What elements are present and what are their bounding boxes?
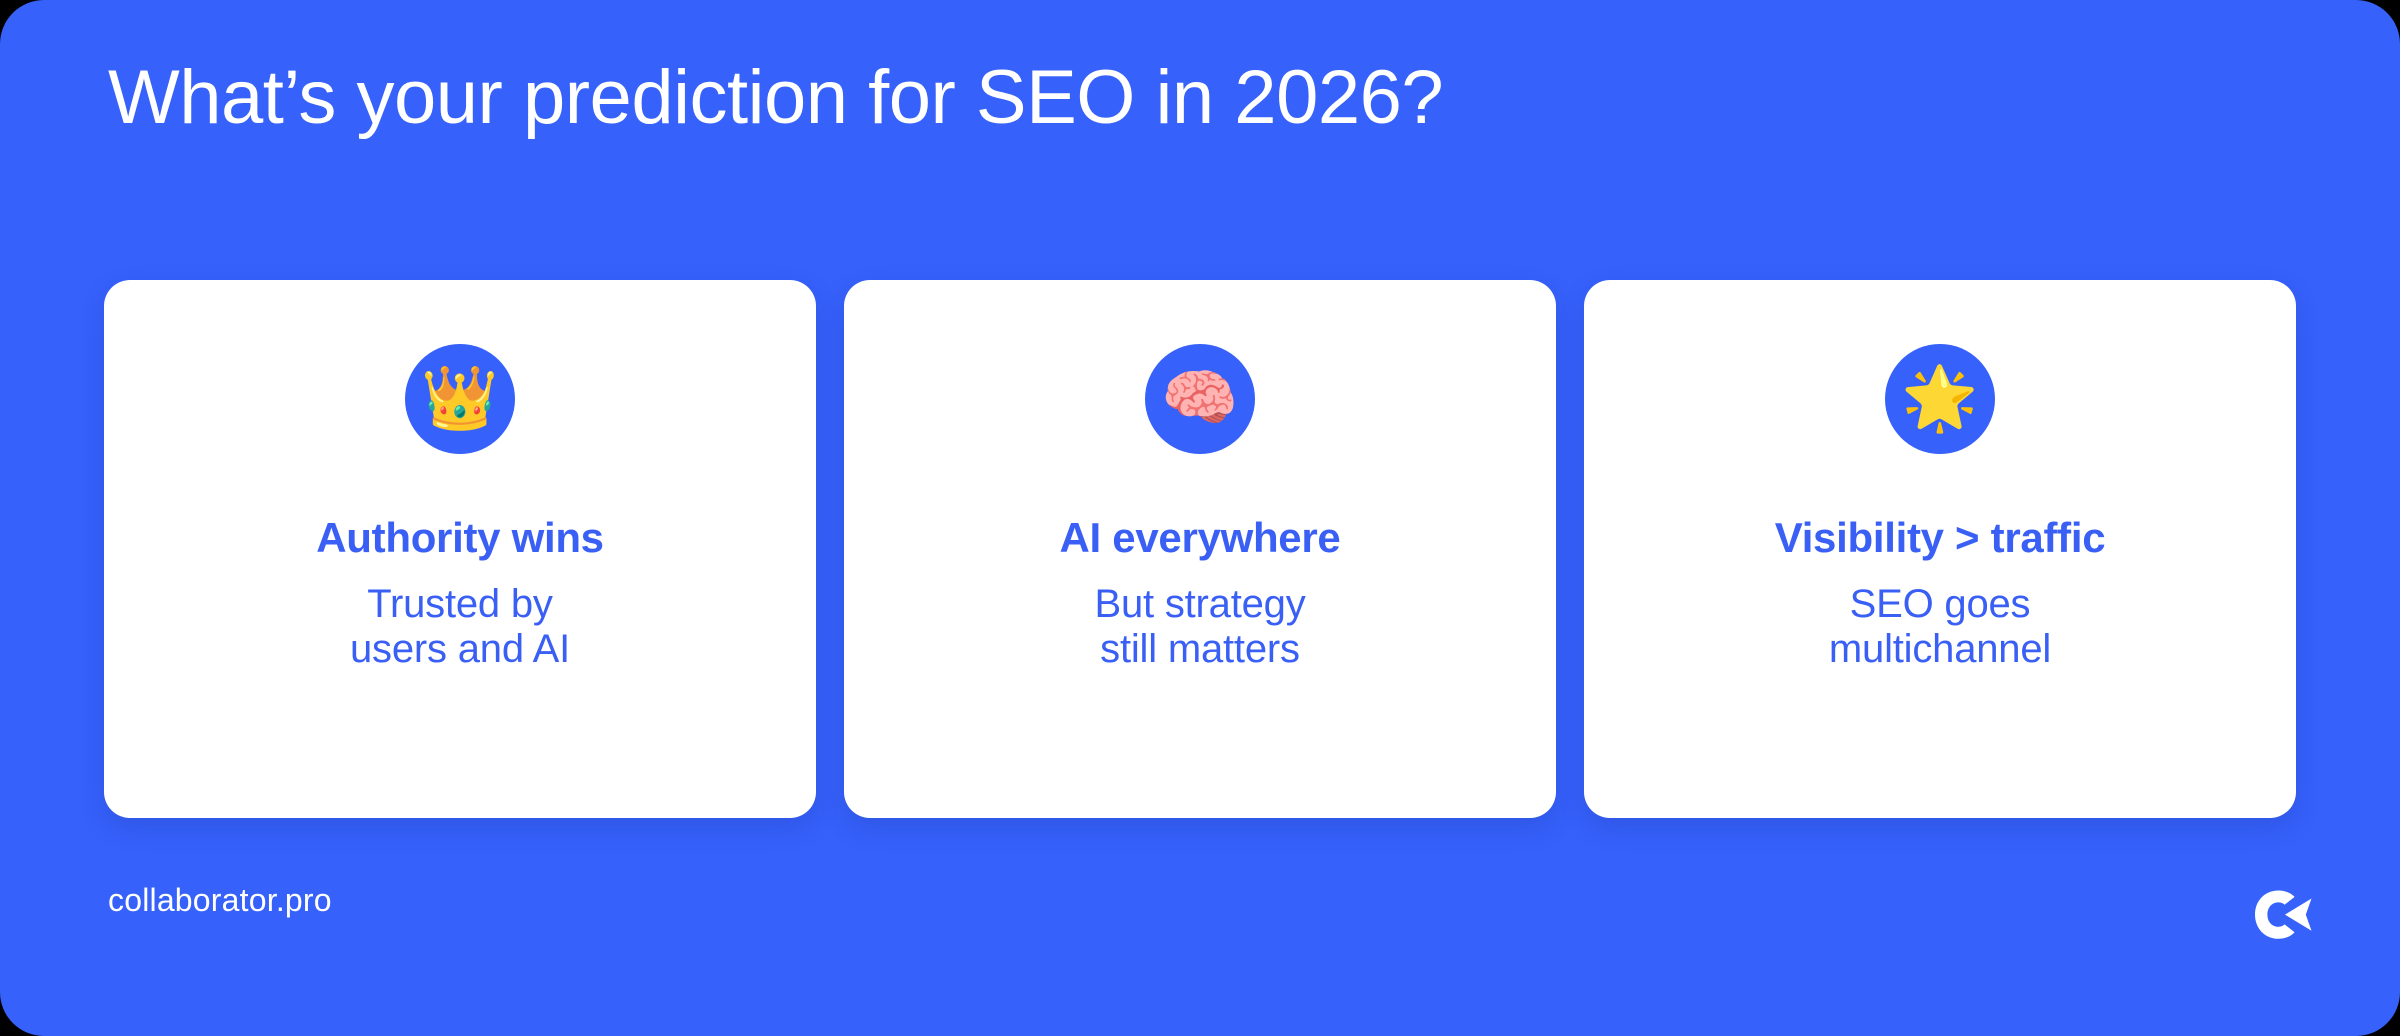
poster-canvas: What’s your prediction for SEO in 2026? … — [0, 0, 2400, 1036]
card-heading: Authority wins — [316, 516, 603, 560]
card-subtitle: But strategy still matters — [1094, 582, 1305, 672]
prediction-card-visibility[interactable]: 🌟 Visibility > traffic SEO goes multicha… — [1584, 280, 2296, 818]
card-heading: AI everywhere — [1060, 516, 1341, 560]
card-subtitle: Trusted by users and AI — [350, 582, 570, 672]
prediction-cards-row: 👑 Authority wins Trusted by users and AI… — [104, 280, 2296, 818]
card-heading: Visibility > traffic — [1775, 516, 2106, 560]
icon-badge: 👑 — [405, 344, 515, 454]
prediction-card-authority[interactable]: 👑 Authority wins Trusted by users and AI — [104, 280, 816, 818]
icon-badge: 🧠 — [1145, 344, 1255, 454]
footer-website-url[interactable]: collaborator.pro — [108, 884, 332, 916]
brain-emoji-icon: 🧠 — [1161, 368, 1238, 430]
card-subtitle: SEO goes multichannel — [1829, 582, 2051, 672]
glowing-star-emoji-icon: 🌟 — [1901, 368, 1978, 430]
page-title: What’s your prediction for SEO in 2026? — [108, 60, 2288, 136]
prediction-card-ai[interactable]: 🧠 AI everywhere But strategy still matte… — [844, 280, 1556, 818]
crown-emoji-icon: 👑 — [421, 368, 498, 430]
icon-badge: 🌟 — [1885, 344, 1995, 454]
collaborator-logo-icon — [2252, 888, 2314, 944]
